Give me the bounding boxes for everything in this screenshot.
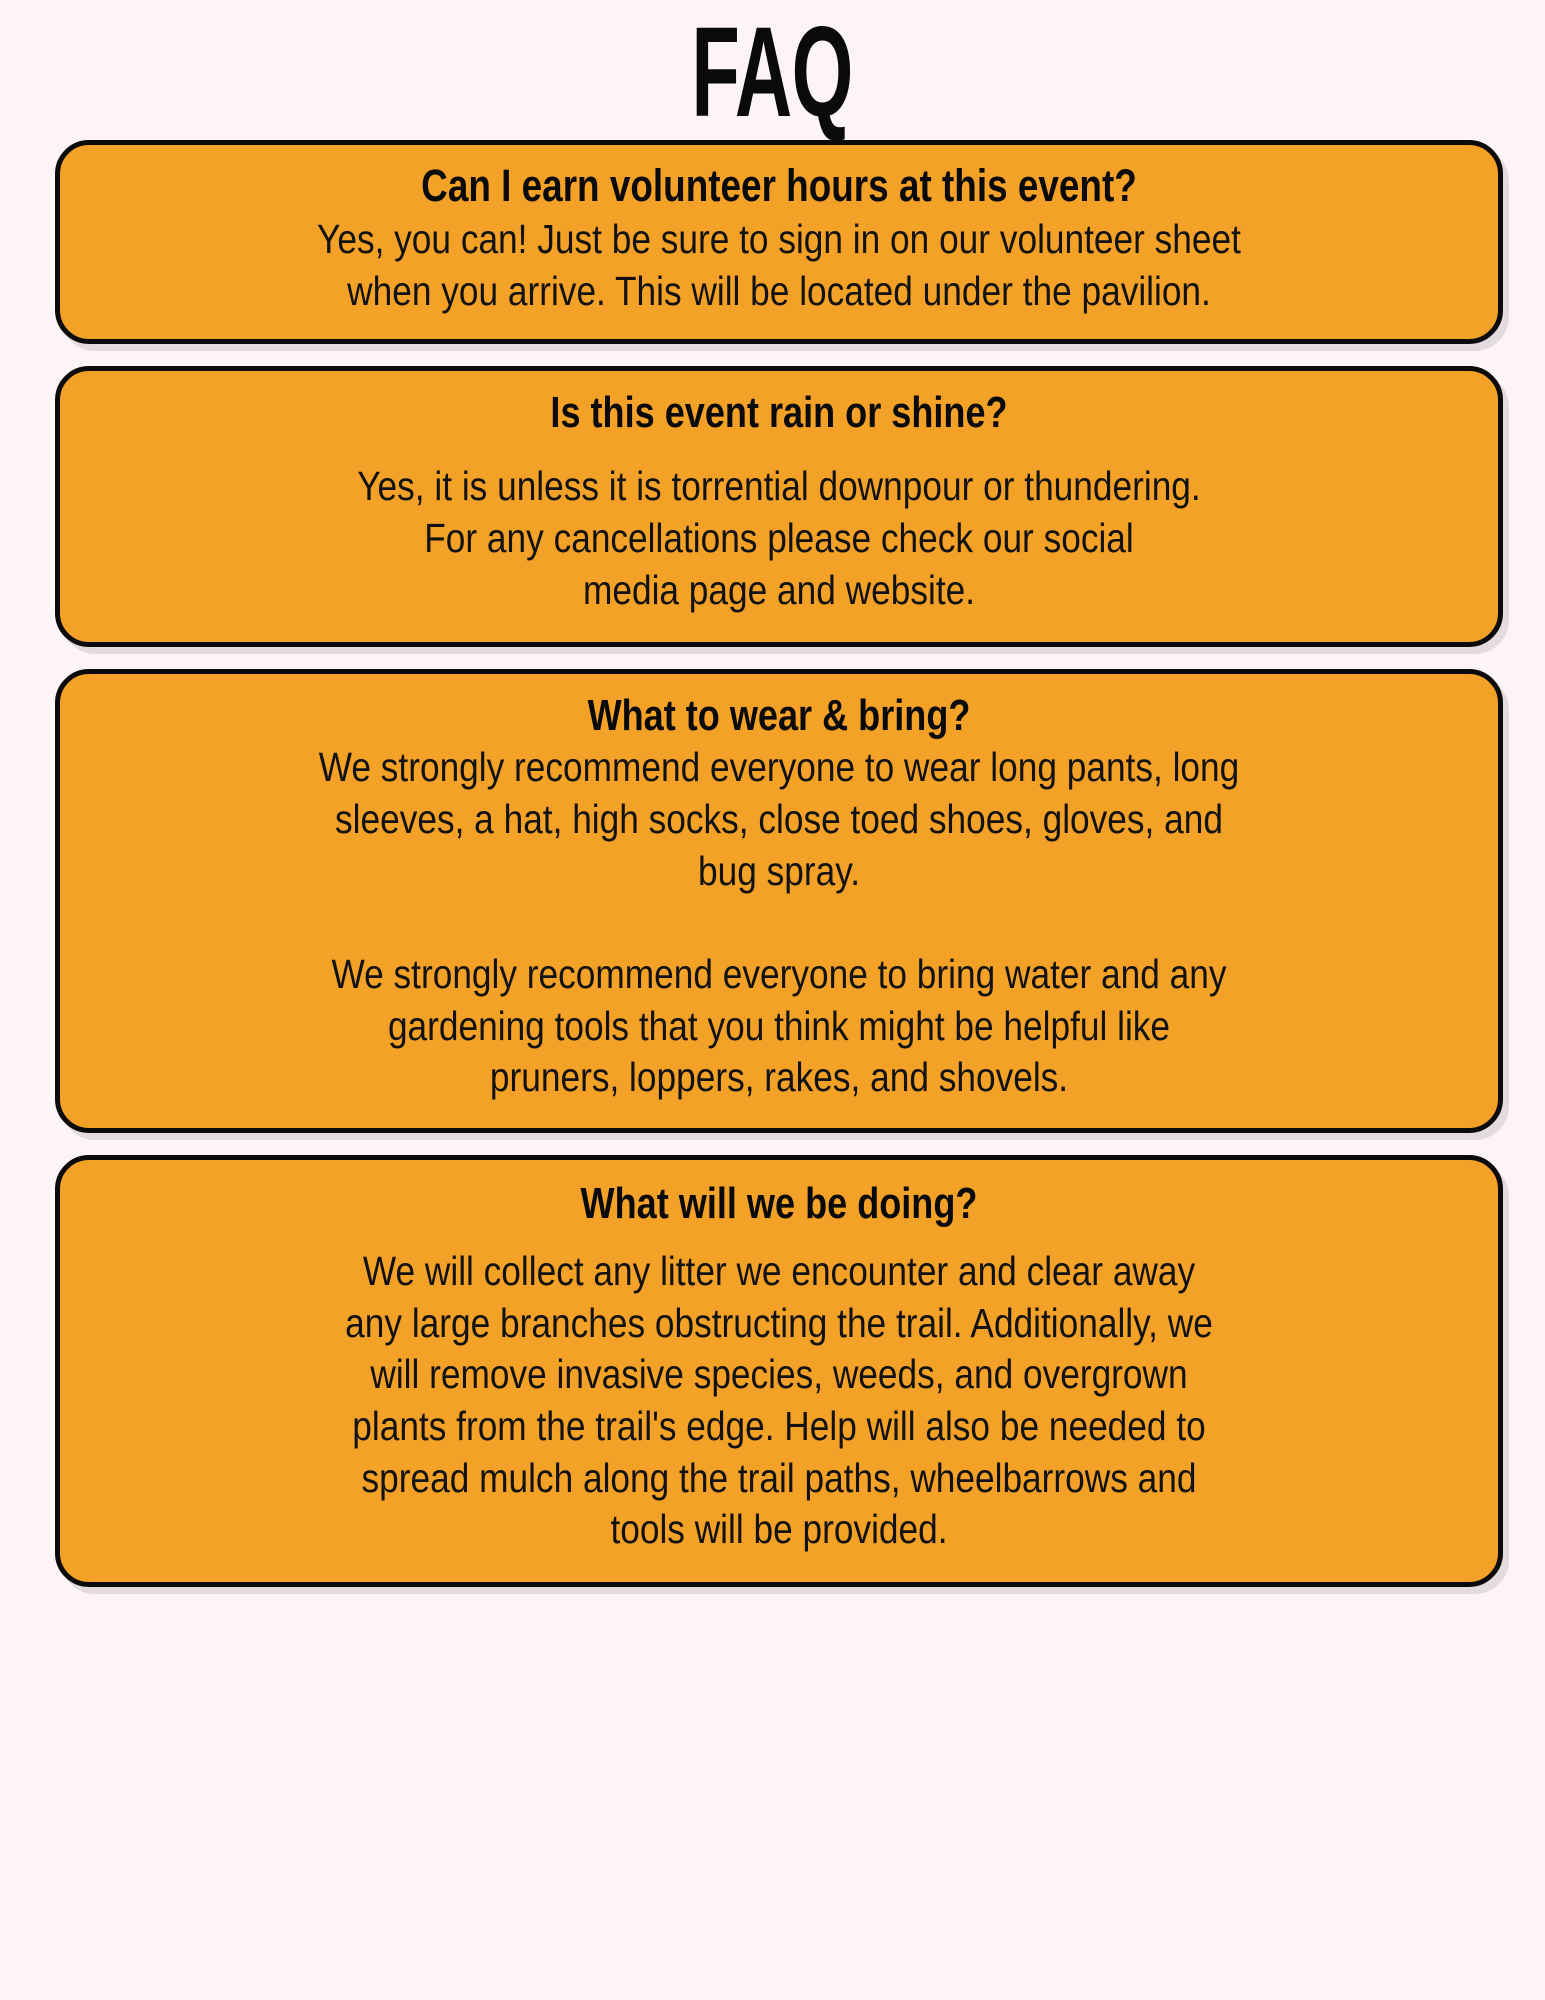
faq-answer-line: sleeves, a hat, high socks, close toed s… xyxy=(183,794,1375,846)
faq-card[interactable]: What will we be doing? We will collect a… xyxy=(55,1155,1503,1587)
faq-answer-line: We strongly recommend everyone to bring … xyxy=(183,949,1375,1001)
faq-card[interactable]: What to wear & bring? We strongly recomm… xyxy=(55,669,1503,1133)
faq-answer-line: gardening tools that you think might be … xyxy=(183,1001,1375,1053)
faq-question: What will we be doing? xyxy=(211,1178,1348,1230)
faq-answer-line: spread mulch along the trail paths, whee… xyxy=(183,1453,1375,1505)
faq-answer-line: Yes, you can! Just be sure to sign in on… xyxy=(183,214,1375,266)
faq-page: FAQ Can I earn volunteer hours at this e… xyxy=(0,0,1545,2000)
faq-answer-paragraph: We strongly recommend everyone to bring … xyxy=(183,949,1375,1104)
faq-question: What to wear & bring? xyxy=(211,690,1348,742)
faq-card[interactable]: Can I earn volunteer hours at this event… xyxy=(55,140,1503,344)
faq-answer-line: will remove invasive species, weeds, and… xyxy=(183,1349,1375,1401)
faq-answer: Yes, it is unless it is torrential downp… xyxy=(183,461,1375,616)
title-section: FAQ xyxy=(0,0,1545,140)
page-title: FAQ xyxy=(692,8,853,139)
faq-answer-line: Yes, it is unless it is torrential downp… xyxy=(183,461,1375,513)
faq-question: Is this event rain or shine? xyxy=(211,387,1348,439)
faq-answer-line: We strongly recommend everyone to wear l… xyxy=(183,742,1375,794)
faq-card[interactable]: Is this event rain or shine? Yes, it is … xyxy=(55,366,1503,647)
faq-answer: Yes, you can! Just be sure to sign in on… xyxy=(183,214,1375,317)
faq-answer-line: tools will be provided. xyxy=(183,1504,1375,1556)
faq-answer-line: any large branches obstructing the trail… xyxy=(183,1298,1375,1350)
faq-answer-line: For any cancellations please check our s… xyxy=(183,513,1375,565)
faq-answer-line: when you arrive. This will be located un… xyxy=(183,266,1375,318)
faq-answer-line: media page and website. xyxy=(183,565,1375,617)
faq-question: Can I earn volunteer hours at this event… xyxy=(211,159,1348,212)
faq-card-list: Can I earn volunteer hours at this event… xyxy=(0,140,1545,1587)
faq-answer-line: bug spray. xyxy=(183,846,1375,898)
faq-answer: We will collect any litter we encounter … xyxy=(183,1246,1375,1556)
faq-answer-line: plants from the trail's edge. Help will … xyxy=(183,1401,1375,1453)
faq-answer-line: pruners, loppers, rakes, and shovels. xyxy=(183,1052,1375,1104)
faq-answer-line: We will collect any litter we encounter … xyxy=(183,1246,1375,1298)
faq-answer-paragraph: We strongly recommend everyone to wear l… xyxy=(183,742,1375,897)
